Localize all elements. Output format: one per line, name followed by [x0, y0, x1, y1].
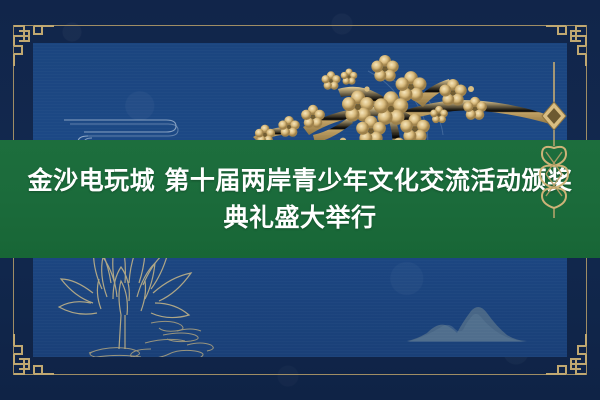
- title-band: 金沙电玩城 第十届两岸青少年文化交流活动颁奖 典礼盛大举行: [0, 140, 600, 258]
- poster-canvas: 金沙电玩城 第十届两岸青少年文化交流活动颁奖 典礼盛大举行: [0, 0, 600, 400]
- title-line-2: 典礼盛大举行: [20, 199, 580, 236]
- page-title: 金沙电玩城 第十届两岸青少年文化交流活动颁奖 典礼盛大举行: [20, 162, 580, 236]
- chinese-fret-corner-icon: [10, 22, 56, 68]
- chinese-fret-corner-icon: [10, 332, 56, 378]
- chinese-knot-tassel-icon: [522, 62, 586, 222]
- title-line-1: 金沙电玩城 第十届两岸青少年文化交流活动颁奖: [20, 162, 580, 199]
- chinese-fret-corner-icon: [544, 332, 590, 378]
- mountain-silhouette-icon: [407, 303, 527, 343]
- chinese-fret-corner-icon: [544, 22, 590, 68]
